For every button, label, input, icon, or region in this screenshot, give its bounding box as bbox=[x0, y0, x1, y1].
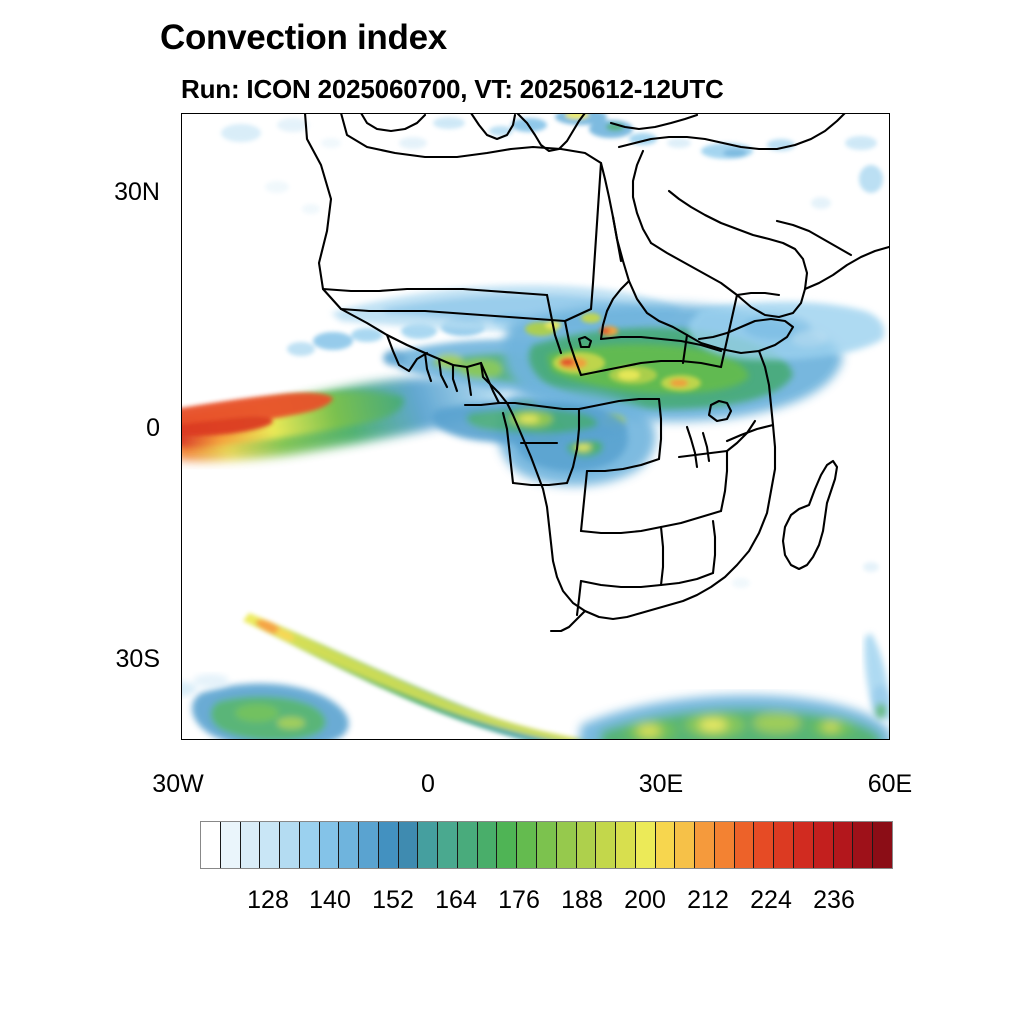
colorbar-cell-19 bbox=[577, 822, 597, 868]
colorbar-cell-13 bbox=[458, 822, 478, 868]
x-tick-0 bbox=[0, 43, 2, 56]
x-tick-60e bbox=[0, 101, 2, 114]
y-axis-label-0: 0 bbox=[80, 414, 160, 443]
colorbar-cell-17 bbox=[537, 822, 557, 868]
x-tick-50e bbox=[0, 93, 2, 101]
colorbar-cell-1 bbox=[221, 822, 241, 868]
colorbar-label-236: 236 bbox=[794, 886, 874, 915]
colorbar-cell-18 bbox=[557, 822, 577, 868]
colorbar-cell-30 bbox=[794, 822, 814, 868]
colorbar-cell-16 bbox=[517, 822, 537, 868]
colorbar-cell-23 bbox=[656, 822, 676, 868]
colorbar-cell-33 bbox=[853, 822, 873, 868]
y-axis-label-30s: 30S bbox=[80, 645, 160, 674]
colorbar[interactable] bbox=[200, 821, 893, 869]
figure-subtitle: Run: ICON 2025060700, VT: 20250612-12UTC bbox=[181, 74, 724, 105]
colorbar-cell-3 bbox=[260, 822, 280, 868]
colorbar-cell-5 bbox=[300, 822, 320, 868]
colorbar-cell-11 bbox=[418, 822, 438, 868]
colorbar-cell-28 bbox=[754, 822, 774, 868]
coastlines-and-borders bbox=[181, 113, 890, 740]
colorbar-cell-26 bbox=[715, 822, 735, 868]
colorbar-cell-7 bbox=[339, 822, 359, 868]
colorbar-cell-32 bbox=[834, 822, 854, 868]
x-axis-label-30e: 30E bbox=[601, 770, 721, 799]
colorbar-cell-2 bbox=[241, 822, 261, 868]
colorbar-cell-29 bbox=[774, 822, 794, 868]
x-tick-20e bbox=[0, 64, 2, 72]
colorbar-cell-14 bbox=[478, 822, 498, 868]
colorbar-cell-15 bbox=[497, 822, 517, 868]
x-axis-label-30w: 30W bbox=[118, 770, 238, 799]
x-tick-30w bbox=[0, 14, 2, 27]
x-axis-label-0: 0 bbox=[368, 770, 488, 799]
colorbar-cell-6 bbox=[320, 822, 340, 868]
x-tick-30e bbox=[0, 72, 2, 85]
colorbar-cell-21 bbox=[616, 822, 636, 868]
x-tick-40e bbox=[0, 85, 2, 93]
map-plot-area bbox=[181, 113, 890, 740]
colorbar-cell-20 bbox=[596, 822, 616, 868]
x-tick-20w bbox=[0, 27, 2, 35]
colorbar-cell-22 bbox=[636, 822, 656, 868]
x-tick-10e bbox=[0, 56, 2, 64]
x-axis-label-60e: 60E bbox=[830, 770, 950, 799]
colorbar-cell-24 bbox=[675, 822, 695, 868]
y-axis-label-30n: 30N bbox=[80, 178, 160, 207]
colorbar-cell-31 bbox=[814, 822, 834, 868]
colorbar-cell-8 bbox=[359, 822, 379, 868]
colorbar-cell-27 bbox=[735, 822, 755, 868]
colorbar-cell-25 bbox=[695, 822, 715, 868]
figure-canvas: Convection index Run: ICON 2025060700, V… bbox=[0, 0, 1024, 1024]
colorbar-cell-10 bbox=[399, 822, 419, 868]
colorbar-cell-12 bbox=[438, 822, 458, 868]
colorbar-cell-4 bbox=[280, 822, 300, 868]
colorbar-cell-34 bbox=[873, 822, 892, 868]
colorbar-cell-0 bbox=[201, 822, 221, 868]
colorbar-cell-9 bbox=[379, 822, 399, 868]
page-title: Convection index bbox=[160, 18, 447, 58]
x-tick-10w bbox=[0, 35, 2, 43]
